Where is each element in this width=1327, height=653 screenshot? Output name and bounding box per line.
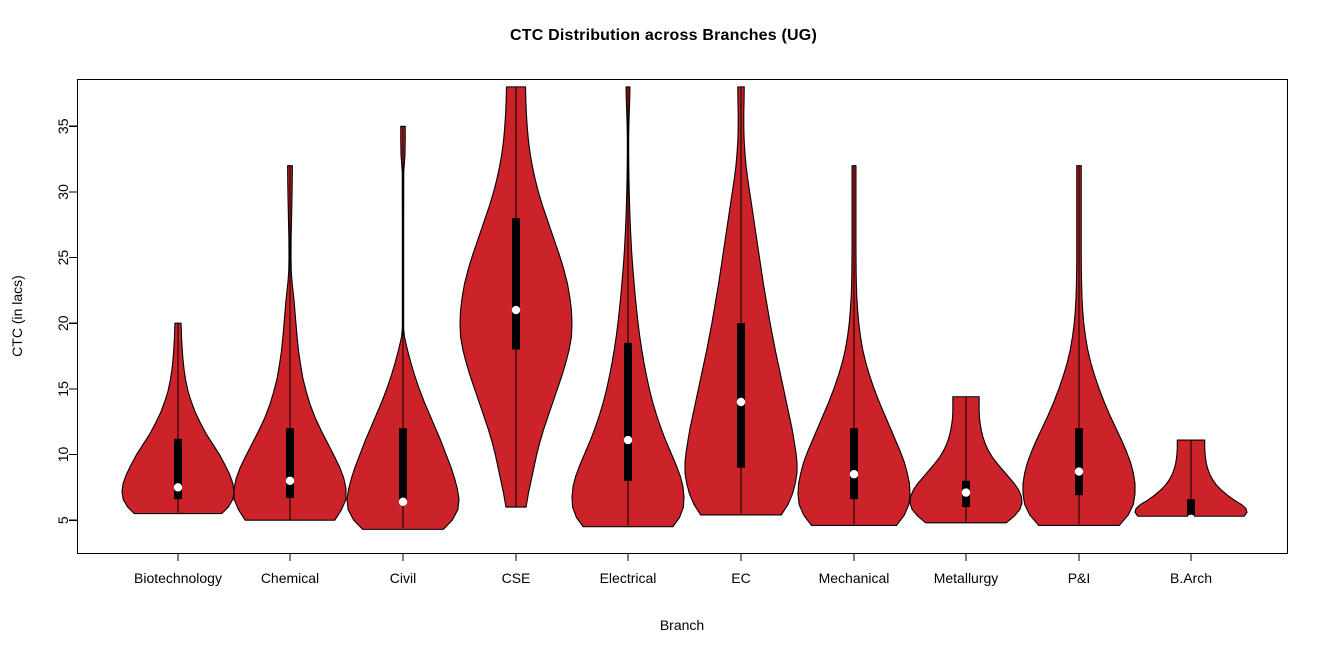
violin-b-arch[interactable]: [1135, 440, 1247, 523]
y-tick-label: 30: [55, 184, 71, 200]
y-tick-label: 10: [55, 447, 71, 463]
x-tick-label-civil: Civil: [390, 570, 416, 586]
x-tick-label-p-i: P&I: [1068, 570, 1091, 586]
x-tick-label-electrical: Electrical: [600, 570, 657, 586]
y-tick-label: 15: [55, 381, 71, 397]
median-dot: [737, 398, 745, 406]
median-dot: [512, 306, 520, 314]
violin-chemical[interactable]: [234, 166, 346, 521]
y-axis-title: CTC (in lacs): [9, 275, 25, 357]
iqr-box: [512, 218, 520, 349]
violin-mechanical[interactable]: [798, 166, 910, 526]
y-tick-label: 35: [55, 118, 71, 134]
iqr-box: [286, 428, 294, 498]
x-axis-title: Branch: [660, 617, 704, 633]
iqr-box: [399, 428, 407, 503]
violin-civil[interactable]: [347, 126, 459, 529]
iqr-box: [624, 343, 632, 481]
x-tick-label-biotechnology: Biotechnology: [134, 570, 222, 586]
median-dot: [1075, 467, 1083, 475]
x-tick-label-metallurgy: Metallurgy: [934, 570, 999, 586]
x-tick-label-b-arch: B.Arch: [1170, 570, 1212, 586]
y-tick-label: 25: [55, 250, 71, 266]
violin-biotechnology[interactable]: [122, 323, 234, 513]
median-dot: [624, 436, 632, 444]
median-dot: [1187, 515, 1195, 523]
iqr-box: [850, 428, 858, 499]
median-dot: [399, 498, 407, 506]
x-tick-label-cse: CSE: [502, 570, 531, 586]
chart-canvas: 5101520253035BiotechnologyChemicalCivilC…: [0, 0, 1327, 653]
x-tick-label-mechanical: Mechanical: [819, 570, 890, 586]
median-dot: [850, 470, 858, 478]
violin-metallurgy[interactable]: [910, 397, 1022, 523]
x-tick-label-ec: EC: [731, 570, 750, 586]
y-tick-label: 5: [55, 516, 71, 524]
violin-ec[interactable]: [685, 87, 797, 515]
violin-cse[interactable]: [460, 87, 572, 507]
iqr-box: [737, 323, 745, 467]
x-tick-label-chemical: Chemical: [261, 570, 319, 586]
median-dot: [962, 488, 970, 496]
violin-p-i[interactable]: [1023, 166, 1135, 526]
median-dot: [286, 477, 294, 485]
violin-plot-figure: CTC Distribution across Branches (UG) 51…: [0, 0, 1327, 653]
median-dot: [174, 483, 182, 491]
iqr-box: [1075, 428, 1083, 495]
y-tick-label: 20: [55, 315, 71, 331]
violins-layer: [122, 87, 1247, 529]
violin-electrical[interactable]: [572, 87, 684, 527]
